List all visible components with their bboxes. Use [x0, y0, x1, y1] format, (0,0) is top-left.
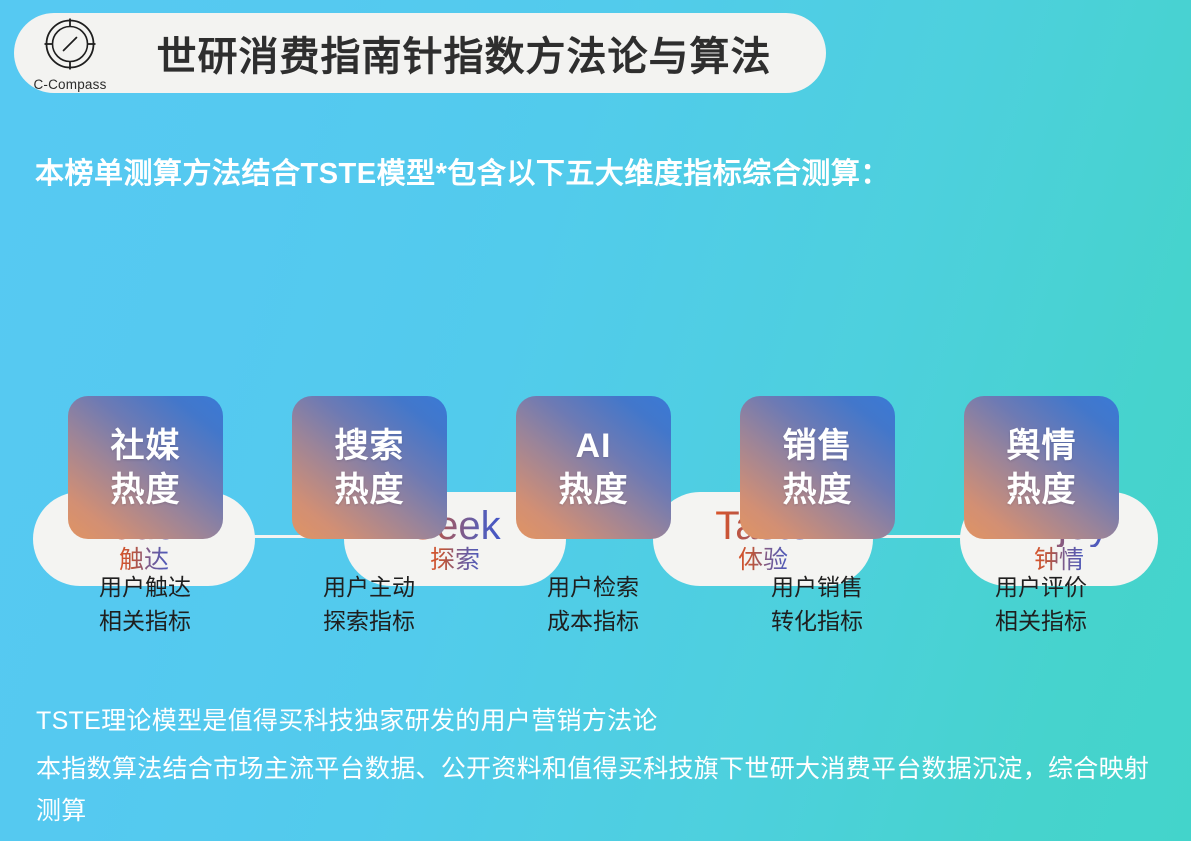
dimension-caption-social: 用户触达 相关指标: [50, 570, 240, 638]
brand-logo: C-Compass: [14, 13, 126, 93]
dimension-caption-ai-line1: 用户检索: [498, 570, 688, 604]
dimension-caption-sentiment-line1: 用户评价: [946, 570, 1136, 604]
dimension-card-ai[interactable]: AI 热度: [516, 396, 671, 539]
dimension-card-search-line1: 搜索: [335, 424, 405, 468]
dimension-card-ai-line2: 热度: [559, 468, 629, 512]
page-title: 世研消费指南针指数方法论与算法: [126, 24, 826, 82]
dimension-caption-sales-line2: 转化指标: [722, 604, 912, 638]
compass-icon: [43, 17, 97, 76]
dimension-card-search[interactable]: 搜索 热度: [292, 396, 447, 539]
logo-wordmark: C-Compass: [33, 77, 106, 92]
dimension-card-search-line2: 热度: [335, 468, 405, 512]
dimension-card-sales[interactable]: 销售 热度: [740, 396, 895, 539]
footer-note-2: 本指数算法结合市场主流平台数据、公开资料和值得买科技旗下世研大消费平台数据沉淀，…: [36, 748, 1161, 832]
dimension-card-social-line2: 热度: [111, 468, 181, 512]
dimension-caption-search-line2: 探索指标: [274, 604, 464, 638]
infographic-canvas: C-Compass 世研消费指南针指数方法论与算法 本榜单测算方法结合TSTE模…: [0, 0, 1191, 841]
footer-note-1: TSTE理论模型是值得买科技独家研发的用户营销方法论: [36, 700, 1161, 742]
dimension-caption-social-line2: 相关指标: [50, 604, 240, 638]
dimension-card-sales-line2: 热度: [783, 468, 853, 512]
dimension-card-sales-line1: 销售: [783, 424, 853, 468]
dimension-caption-sentiment-line2: 相关指标: [946, 604, 1136, 638]
title-bar: C-Compass 世研消费指南针指数方法论与算法: [14, 13, 826, 93]
intro-sentence: 本榜单测算方法结合TSTE模型*包含以下五大维度指标综合测算：: [35, 150, 890, 192]
dimension-caption-ai: 用户检索 成本指标: [498, 570, 688, 638]
dimension-caption-sales: 用户销售 转化指标: [722, 570, 912, 638]
dimension-caption-ai-line2: 成本指标: [498, 604, 688, 638]
footer-notes: TSTE理论模型是值得买科技独家研发的用户营销方法论 本指数算法结合市场主流平台…: [36, 700, 1161, 832]
dimension-caption-sentiment: 用户评价 相关指标: [946, 570, 1136, 638]
dimension-card-sentiment[interactable]: 舆情 热度: [964, 396, 1119, 539]
dimension-caption-social-line1: 用户触达: [50, 570, 240, 604]
dimension-card-ai-line1: AI: [576, 424, 612, 468]
dimension-card-social[interactable]: 社媒 热度: [68, 396, 223, 539]
dimension-card-social-line1: 社媒: [111, 424, 181, 468]
tste-model-row: Touch 触达 Seek 探索 Taste 体验 Enjoy 钟情: [0, 244, 1191, 348]
dimension-card-sentiment-line2: 热度: [1007, 468, 1077, 512]
dimension-caption-search-line1: 用户主动: [274, 570, 464, 604]
dimension-caption-search: 用户主动 探索指标: [274, 570, 464, 638]
dimension-card-sentiment-line1: 舆情: [1007, 424, 1077, 468]
dimension-caption-sales-line1: 用户销售: [722, 570, 912, 604]
